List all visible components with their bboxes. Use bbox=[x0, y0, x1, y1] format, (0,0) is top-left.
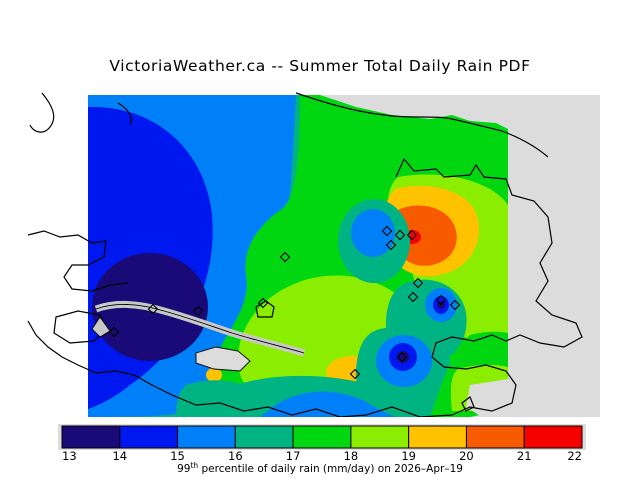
colorbar-band-16-17 bbox=[235, 426, 293, 448]
colorbar-band-14-15 bbox=[120, 426, 178, 448]
contour-fill-group bbox=[88, 95, 508, 417]
caption-number: 99 bbox=[177, 463, 190, 475]
colorbar-band-18-19 bbox=[351, 426, 409, 448]
colorbar-tick-group: 13141516171819202122 bbox=[62, 449, 582, 463]
colorbar-tick-label: 18 bbox=[344, 449, 359, 463]
colorbar-band-21-22 bbox=[524, 426, 582, 448]
caption-rest: percentile of daily rain (mm/day) on 202… bbox=[198, 463, 463, 475]
map-figure bbox=[0, 85, 640, 417]
colorbar-band-15-16 bbox=[178, 426, 236, 448]
contour-band-19-20-westcoast bbox=[206, 368, 222, 382]
colorbar-tick-label: 13 bbox=[62, 449, 77, 463]
colorbar: 13141516171819202122 99th percentile of … bbox=[0, 420, 640, 480]
colorbar-tick-label: 17 bbox=[286, 449, 301, 463]
top-white-strip bbox=[88, 85, 600, 95]
colorbar-band-20-21 bbox=[466, 426, 524, 448]
colorbar-tick-label: 15 bbox=[170, 449, 185, 463]
colorbar-tick-label: 20 bbox=[459, 449, 474, 463]
colorbar-tick-label: 21 bbox=[517, 449, 532, 463]
colorbar-band-17-18 bbox=[293, 426, 351, 448]
colorbar-tick-label: 16 bbox=[228, 449, 243, 463]
colorbar-tick-label: 22 bbox=[567, 449, 582, 463]
rainfall-contour-map bbox=[0, 85, 640, 417]
colorbar-tick-label: 14 bbox=[112, 449, 127, 463]
colorbar-band-group bbox=[62, 426, 582, 448]
coastline-southwest bbox=[28, 321, 96, 373]
contour-band-15-16-north bbox=[351, 209, 395, 257]
colorbar-figure: 13141516171819202122 99th percentile of … bbox=[0, 420, 640, 480]
colorbar-tick-label: 19 bbox=[401, 449, 416, 463]
page-title: VictoriaWeather.ca -- Summer Total Daily… bbox=[0, 57, 640, 75]
colorbar-band-13-14 bbox=[62, 426, 120, 448]
colorbar-caption: 99th percentile of daily rain (mm/day) o… bbox=[177, 461, 463, 475]
colorbar-band-19-20 bbox=[409, 426, 467, 448]
inlet-fragment-northwest bbox=[30, 93, 54, 132]
